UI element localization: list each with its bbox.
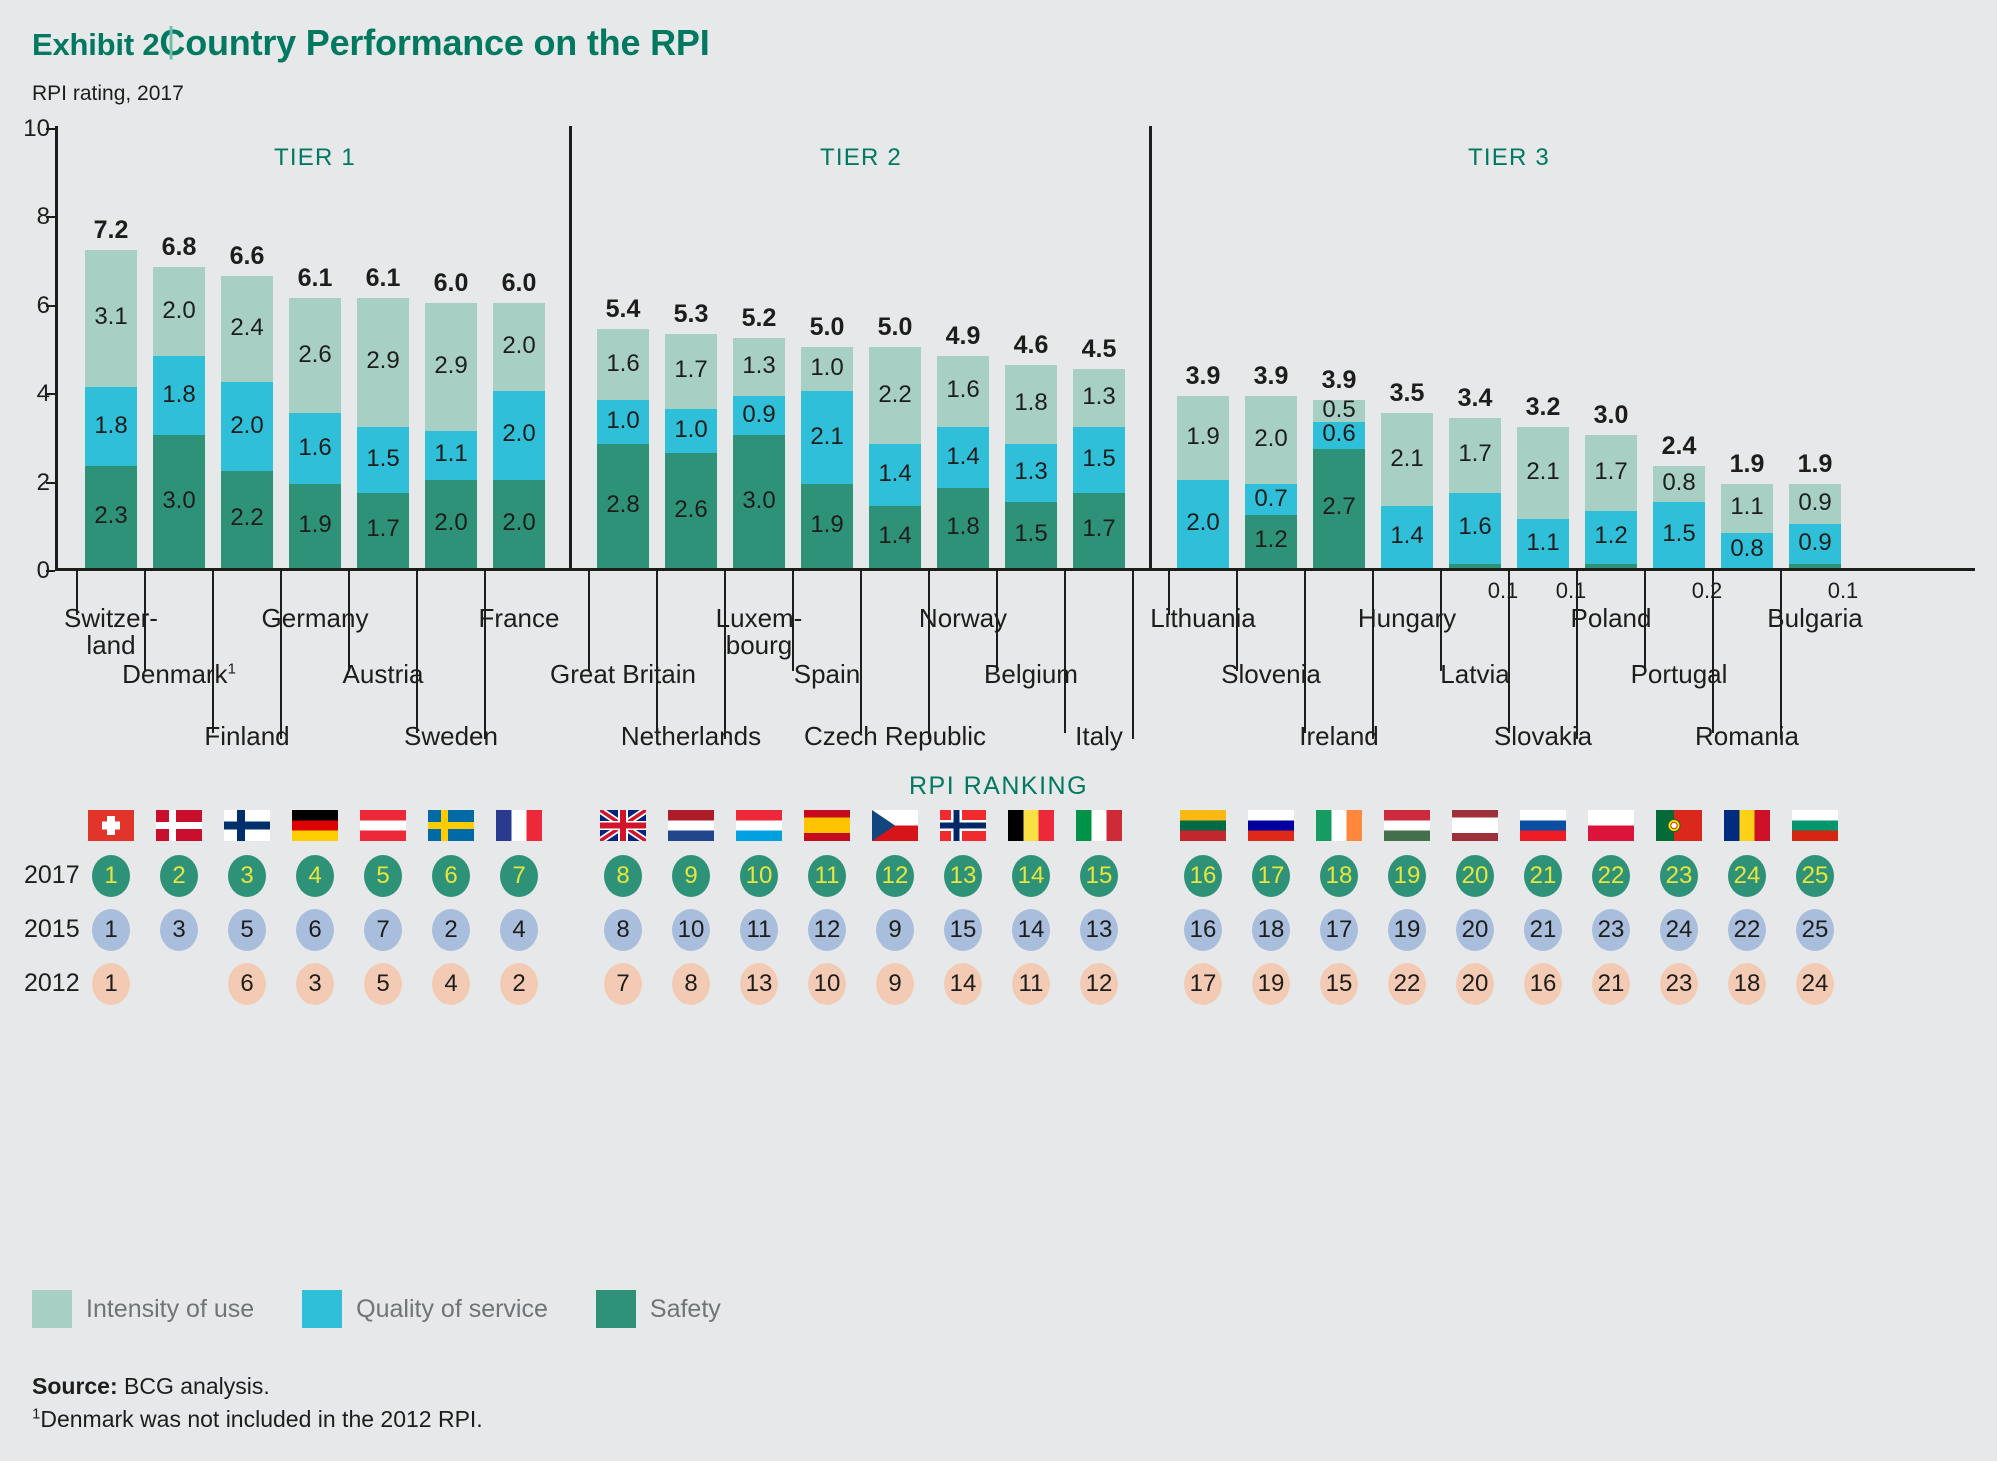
category-tick [416,571,418,733]
segment-intensity-value: 2.9 [366,347,399,375]
segment-intensity-value: 1.7 [674,356,707,384]
ranking-year-2015: 2015 [24,915,80,944]
segment-quality: 1.6 [289,413,341,484]
bar-poland[interactable]: 1.71.23.0 [1585,435,1637,568]
segment-quality: 2.0 [1177,480,1229,568]
y-axis-tick-2: 2 [0,469,50,497]
y-axis-tickmark-8 [46,216,55,218]
bar-sweden[interactable]: 2.91.12.06.0 [425,303,477,568]
bar-total-label: 3.5 [1390,379,1425,408]
rank-pill-2012-ro: 18 [1728,963,1766,1005]
flag-icon-sk [1520,810,1566,841]
chart-legend: Intensity of useQuality of serviceSafety [32,1290,755,1328]
rank-pill-2015-fi: 5 [228,909,266,951]
rank-pill-2012-ie: 15 [1320,963,1358,1005]
rank-pill-2015-es: 12 [808,909,846,951]
segment-safety: 1.4 [869,506,921,568]
rank-pill-2017-bg: 25 [1796,855,1834,897]
rank-pill-2017-si: 17 [1252,855,1290,897]
flag-icon-lt [1180,810,1226,841]
category-labels: Switzer-landDenmark1FinlandGermanyAustri… [55,571,1975,771]
segment-quality: 1.0 [597,400,649,444]
bar-germany[interactable]: 2.61.61.96.1 [289,298,341,568]
rank-pill-2017-lt: 16 [1184,855,1222,897]
bar-total-label: 5.4 [606,295,641,324]
category-tick [76,571,78,615]
segment-intensity: 1.3 [1073,369,1125,426]
segment-safety [1789,564,1841,568]
segment-safety-value: 1.8 [946,513,979,541]
category-tick [724,571,726,615]
rank-pill-2017-fr: 7 [500,855,538,897]
segment-quality-value: 1.1 [434,440,467,468]
segment-quality: 1.1 [1517,519,1569,568]
label-footnote: 1 [228,660,236,677]
legend-label: Safety [650,1295,721,1324]
bar-norway[interactable]: 1.61.41.84.9 [937,356,989,568]
segment-intensity: 1.1 [1721,484,1773,533]
segment-safety: 1.2 [1245,515,1297,568]
segment-intensity-value: 3.1 [94,303,127,331]
flag-icon-be [1008,810,1054,841]
flag-icon-no [940,810,986,841]
flag-icon-es [804,810,850,841]
rank-pill-2017-de: 4 [296,855,334,897]
segment-intensity: 1.0 [801,347,853,391]
segment-intensity-value: 2.0 [502,332,535,360]
segment-intensity: 3.1 [85,250,137,387]
segment-quality-value: 0.6 [1322,420,1355,448]
segment-intensity-value: 2.0 [1254,425,1287,453]
flag-icon-at [360,810,406,841]
segment-quality: 2.0 [221,382,273,470]
segment-quality: 0.9 [733,396,785,436]
segment-quality: 0.8 [1721,533,1773,568]
leader-line [1132,571,1134,739]
rank-pill-2015-cz: 9 [876,909,914,951]
bar-netherlands[interactable]: 1.71.02.65.3 [665,334,717,568]
rank-pill-2015-de: 6 [296,909,334,951]
flag-icon-lu [736,810,782,841]
flag-icon-nl [668,810,714,841]
segment-quality-value: 1.5 [1662,520,1695,548]
rank-pill-2017-fi: 3 [228,855,266,897]
segment-quality: 1.4 [1381,506,1433,568]
rank-pill-2012-no: 14 [944,963,982,1005]
segment-intensity: 1.7 [665,334,717,409]
category-tick [656,571,658,733]
segment-safety-value: 2.7 [1322,493,1355,521]
rank-pill-2015-se: 2 [432,909,470,951]
bar-ireland[interactable]: 0.50.62.73.9 [1313,400,1365,568]
category-tick [588,571,590,671]
segment-quality-value: 1.6 [298,434,331,462]
segment-safety: 2.6 [665,453,717,568]
segment-intensity: 2.0 [153,267,205,355]
segment-safety: 1.5 [1005,502,1057,568]
bar-total-label: 3.0 [1594,401,1629,430]
segment-quality-value: 1.3 [1014,458,1047,486]
tier-label-3: TIER 3 [1468,144,1550,172]
rank-pill-2012-fi: 6 [228,963,266,1005]
category-label-lithuania: Lithuania [1150,605,1256,632]
segment-quality-value: 1.8 [162,381,195,409]
ranking-table: 2017123456789101112131415161718192021222… [0,810,1997,970]
bar-total-label: 5.2 [742,304,777,333]
bar-total-label: 6.0 [434,269,469,298]
segment-quality: 0.9 [1789,524,1841,564]
bar-belgium[interactable]: 1.81.31.54.6 [1005,365,1057,568]
category-label-spain: Spain [794,661,861,688]
segment-intensity: 1.3 [733,338,785,395]
footnote-text: Denmark was not included in the 2012 RPI… [40,1406,482,1432]
y-axis-tick-4: 4 [0,380,50,408]
category-tick [280,571,282,615]
rank-pill-2012-lt: 17 [1184,963,1222,1005]
rank-pill-2015-no: 15 [944,909,982,951]
segment-intensity: 0.5 [1313,400,1365,422]
title-text: Country Performance on the RPI [159,22,709,63]
bar-latvia[interactable]: 1.71.63.4 [1449,418,1501,568]
segment-intensity: 2.2 [869,347,921,444]
category-tick [484,571,486,615]
segment-quality: 1.5 [357,427,409,493]
flag-icon-ie [1316,810,1362,841]
segment-quality-value: 1.5 [366,445,399,473]
flag-icon-fi [224,810,270,841]
segment-intensity: 2.9 [425,303,477,431]
segment-intensity-value: 1.1 [1730,493,1763,521]
category-label-latvia: Latvia [1440,661,1509,688]
bar-total-label: 5.3 [674,300,709,329]
rank-pill-2015-ie: 17 [1320,909,1358,951]
flag-icon-ch [88,810,134,841]
category-tick [792,571,794,671]
segment-intensity: 2.0 [493,303,545,391]
segment-intensity-value: 1.6 [946,376,979,404]
segment-safety-value: 2.0 [502,509,535,537]
bar-lithuania[interactable]: 1.92.03.9 [1177,396,1229,568]
legend-swatch [302,1290,342,1328]
segment-intensity-value: 2.1 [1390,445,1423,473]
segment-safety: 3.0 [153,435,205,568]
bar-spain[interactable]: 1.02.11.95.0 [801,347,853,568]
segment-quality: 1.5 [1653,502,1705,568]
flag-icon-fr [496,810,542,841]
y-axis-line [55,126,58,571]
legend-item-intensity-of-use: Intensity of use [32,1290,254,1328]
rank-pill-2012-de: 3 [296,963,334,1005]
flag-icon-gb [600,810,646,841]
segment-safety: 3.0 [733,435,785,568]
segment-quality: 1.2 [1585,511,1637,564]
segment-safety: 2.7 [1313,449,1365,568]
segment-quality-value: 2.0 [1186,509,1219,537]
bar-denmark[interactable]: 2.01.83.06.8 [153,267,205,568]
segment-quality: 1.5 [1073,427,1125,493]
bar-portugal[interactable]: 0.81.52.4 [1653,466,1705,568]
flag-icon-pt [1656,810,1702,841]
rank-pill-2015-sk: 21 [1524,909,1562,951]
segment-safety: 2.0 [493,480,545,568]
segment-quality-value: 0.8 [1730,535,1763,563]
category-label-denmark: Denmark1 [122,661,236,688]
ranking-year-2017: 2017 [24,861,80,890]
segment-intensity: 2.0 [1245,396,1297,484]
tier-divider-1 [569,126,572,571]
rank-pill-2012-si: 19 [1252,963,1290,1005]
rank-pill-2012-sk: 16 [1524,963,1562,1005]
segment-safety-value: 1.5 [1014,520,1047,548]
chart-subtitle: RPI rating, 2017 [32,82,184,106]
segment-safety: 1.9 [801,484,853,568]
y-axis-tickmark-10 [46,128,55,130]
category-label-romania: Romania [1695,723,1799,750]
ranking-year-2012: 2012 [24,969,80,998]
segment-safety: 1.9 [289,484,341,568]
legend-item-quality-of-service: Quality of service [302,1290,548,1328]
segment-safety: 2.0 [425,480,477,568]
category-label-sweden: Sweden [404,723,498,750]
y-axis-tick-10: 10 [0,115,50,143]
segment-intensity: 0.8 [1653,466,1705,501]
segment-safety-value: 2.6 [674,496,707,524]
y-axis-tickmark-2 [46,482,55,484]
segment-intensity: 1.9 [1177,396,1229,480]
rank-pill-2015-lu: 11 [740,909,778,951]
legend-item-safety: Safety [596,1290,721,1328]
category-label-italy: Italy [1075,723,1123,750]
y-axis-tickmark-0 [46,570,55,572]
exhibit-label: Exhibit 2 [32,27,159,62]
legend-label: Intensity of use [86,1295,254,1324]
rank-pill-2015-si: 18 [1252,909,1290,951]
segment-intensity-value: 1.9 [1186,423,1219,451]
segment-quality: 1.4 [869,444,921,506]
rank-pill-2017-it: 15 [1080,855,1118,897]
segment-intensity: 1.7 [1585,435,1637,510]
bar-greatbritain[interactable]: 1.61.02.85.4 [597,329,649,568]
flag-icon-it [1076,810,1122,841]
bar-italy[interactable]: 1.31.51.74.5 [1073,369,1125,568]
legend-label: Quality of service [356,1295,548,1324]
segment-quality: 0.6 [1313,422,1365,449]
rank-pill-2017-at: 5 [364,855,402,897]
bar-total-label: 2.4 [1662,432,1697,461]
bar-luxem[interactable]: 1.30.93.05.2 [733,338,785,568]
segment-intensity-value: 1.7 [1458,440,1491,468]
rank-pill-2015-bg: 25 [1796,909,1834,951]
segment-safety-value: 1.7 [1082,515,1115,543]
segment-intensity: 1.6 [597,329,649,400]
rank-pill-2015-it: 13 [1080,909,1118,951]
rank-pill-2012-bg: 24 [1796,963,1834,1005]
segment-quality-value: 0.9 [1798,529,1831,557]
bar-total-label: 6.8 [162,233,197,262]
segment-intensity-value: 2.1 [1526,458,1559,486]
segment-quality-value: 1.5 [1082,445,1115,473]
segment-quality-value: 2.0 [230,412,263,440]
segment-safety [1585,564,1637,568]
bar-bulgaria[interactable]: 0.90.91.9 [1789,484,1841,568]
category-tick [1712,571,1714,733]
segment-safety-value: 2.3 [94,502,127,530]
segment-quality-value: 1.4 [1390,522,1423,550]
category-label-czechrepublic: Czech Republic [804,723,986,750]
category-label-france: France [479,605,560,632]
rank-pill-2015-lv: 20 [1456,909,1494,951]
segment-quality: 1.8 [85,387,137,467]
segment-intensity: 2.4 [221,276,273,382]
segment-safety: 1.7 [1073,493,1125,568]
category-tick [1440,571,1442,671]
y-axis-tick-6: 6 [0,292,50,320]
ranking-header: RPI RANKING [0,772,1997,801]
segment-safety [1449,564,1501,568]
category-tick [1236,571,1238,671]
flag-icon-si [1248,810,1294,841]
bar-czechrepublic[interactable]: 2.21.41.45.0 [869,347,921,568]
rank-pill-2012-be: 11 [1012,963,1050,1005]
flag-icon-se [428,810,474,841]
segment-quality: 1.3 [1005,444,1057,501]
segment-intensity: 1.6 [937,356,989,427]
segment-intensity-value: 1.7 [1594,458,1627,486]
bar-hungary[interactable]: 2.11.43.5 [1381,413,1433,568]
segment-quality: 1.8 [153,356,205,436]
segment-intensity: 0.9 [1789,484,1841,524]
rank-pill-2015-dk: 3 [160,909,198,951]
rank-pill-2012-fr: 2 [500,963,538,1005]
tier-label-1: TIER 1 [274,144,356,172]
bar-france[interactable]: 2.02.02.06.0 [493,303,545,568]
rank-pill-2012-pt: 23 [1660,963,1698,1005]
segment-intensity: 2.1 [1381,413,1433,506]
segment-quality: 1.1 [425,431,477,480]
source-line: Source: BCG analysis. [32,1370,483,1403]
bar-finland[interactable]: 2.42.02.26.6 [221,276,273,568]
segment-quality-value: 0.9 [742,401,775,429]
segment-safety: 1.7 [357,493,409,568]
rank-pill-2017-pt: 23 [1660,855,1698,897]
bar-slovakia[interactable]: 2.11.13.2 [1517,427,1569,568]
y-axis-tickmark-4 [46,393,55,395]
category-label-germany: Germany [262,605,369,632]
rank-pill-2015-be: 14 [1012,909,1050,951]
segment-quality-value: 1.4 [878,460,911,488]
rank-pill-2015-pt: 24 [1660,909,1698,951]
segment-intensity: 2.9 [357,298,409,426]
rank-pill-2017-ro: 24 [1728,855,1766,897]
segment-quality-value: 2.1 [810,423,843,451]
rank-pill-2017-ch: 1 [92,855,130,897]
flag-icon-dk [156,810,202,841]
rank-pill-2012-ch: 1 [92,963,130,1005]
footnote-line: 1Denmark was not included in the 2012 RP… [32,1403,483,1436]
bar-total-label: 1.9 [1798,450,1833,479]
segment-quality-value: 1.0 [606,407,639,435]
tier-label-2: TIER 2 [820,144,902,172]
segment-safety-value: 2.8 [606,491,639,519]
rank-pill-2015-at: 7 [364,909,402,951]
segment-safety-value: 1.9 [298,511,331,539]
segment-quality-value: 1.4 [946,443,979,471]
rank-pill-2017-es: 11 [808,855,846,897]
rank-pill-2017-gb: 8 [604,855,642,897]
category-label-netherlands: Netherlands [621,723,761,750]
segment-intensity-value: 1.3 [742,352,775,380]
flag-icon-cz [872,810,918,841]
category-tick [1576,571,1578,615]
page-title: Exhibit 2|Country Performance on the RPI [32,22,710,64]
segment-intensity-value: 1.6 [606,350,639,378]
segment-intensity: 2.6 [289,298,341,413]
segment-intensity: 1.8 [1005,365,1057,445]
bar-austria[interactable]: 2.91.51.76.1 [357,298,409,568]
y-axis-tick-0: 0 [0,557,50,585]
source-label: Source: [32,1373,118,1399]
rank-pill-2015-gb: 8 [604,909,642,951]
rank-pill-2017-no: 13 [944,855,982,897]
rank-pill-2015-nl: 10 [672,909,710,951]
category-tick [996,571,998,671]
segment-quality-value: 1.0 [674,416,707,444]
segment-intensity-value: 1.3 [1082,383,1115,411]
rank-pill-2012-se: 4 [432,963,470,1005]
rank-pill-2015-hu: 19 [1388,909,1426,951]
segment-quality-value: 1.1 [1526,529,1559,557]
segment-safety-value: 1.2 [1254,526,1287,554]
rank-pill-2017-ie: 18 [1320,855,1358,897]
segment-safety-value: 2.0 [434,509,467,537]
bar-total-label: 6.0 [502,269,537,298]
segment-intensity-value: 2.4 [230,314,263,342]
bar-total-label: 3.2 [1526,393,1561,422]
bar-total-label: 3.4 [1458,384,1493,413]
rank-pill-2017-dk: 2 [160,855,198,897]
bar-total-label: 6.6 [230,242,265,271]
rank-pill-2017-nl: 9 [672,855,710,897]
category-label-greatbritain: Great Britain [550,661,696,688]
rank-pill-2012-nl: 8 [672,963,710,1005]
segment-safety: 1.8 [937,488,989,568]
bar-total-label: 6.1 [366,264,401,293]
bar-romania[interactable]: 1.10.81.9 [1721,484,1773,568]
legend-swatch [596,1290,636,1328]
category-label-austria: Austria [343,661,424,688]
bar-slovenia[interactable]: 2.00.71.23.9 [1245,396,1297,568]
rank-pill-2017-be: 14 [1012,855,1050,897]
bar-total-label: 4.9 [946,322,981,351]
segment-intensity-value: 2.2 [878,381,911,409]
category-tick [1304,571,1306,733]
rank-pill-2015-pl: 23 [1592,909,1630,951]
rank-pill-2015-ro: 22 [1728,909,1766,951]
segment-safety-value: 3.0 [742,487,775,515]
segment-intensity-value: 1.0 [810,354,843,382]
segment-intensity-value: 1.8 [1014,389,1047,417]
bar-switzer[interactable]: 3.11.82.37.2 [85,250,137,568]
segment-quality: 1.4 [937,427,989,489]
tier-divider-2 [1149,126,1152,571]
bar-total-label: 6.1 [298,264,333,293]
source-note: Source: BCG analysis. 1Denmark was not i… [32,1370,483,1437]
segment-quality: 2.1 [801,391,853,484]
rank-pill-2015-lt: 16 [1184,909,1222,951]
category-tick [348,571,350,671]
segment-quality-value: 1.2 [1594,522,1627,550]
category-tick [1168,571,1170,615]
